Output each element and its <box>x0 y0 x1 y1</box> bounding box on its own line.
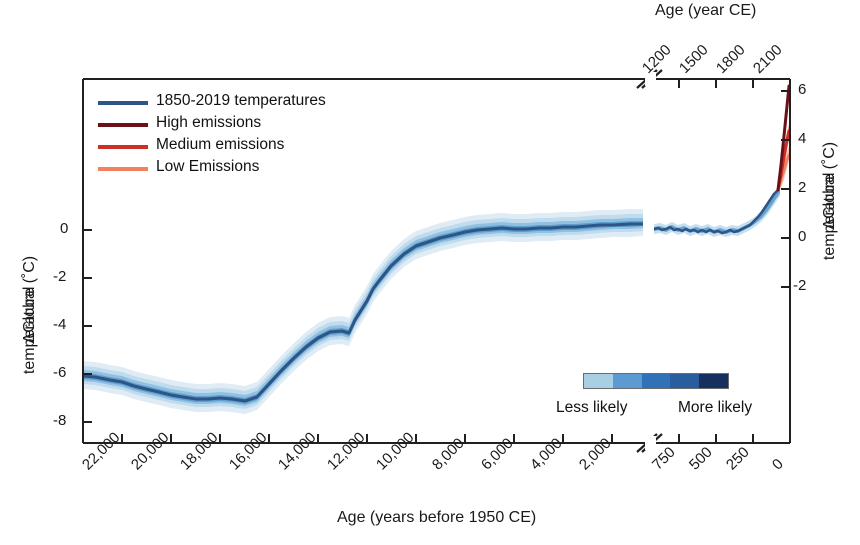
likelihood-colorbar <box>583 373 729 389</box>
legend-item-high: High emissions <box>98 114 358 136</box>
right-axis-title-line2: temperature (˚C) <box>821 121 839 281</box>
left-tick-m8: -8 <box>53 412 66 429</box>
legend-item-low: Low Emissions <box>98 158 358 180</box>
legend-swatch-medium <box>98 145 148 149</box>
left-tick-m6: -6 <box>53 364 66 381</box>
legend-swatch-observed <box>98 101 148 105</box>
bottom-axis-title: Age (years before 1950 CE) <box>337 509 536 527</box>
legend-swatch-high <box>98 123 148 127</box>
colorbar-cell-3 <box>642 374 671 388</box>
colorbar-cell-1 <box>584 374 613 388</box>
legend-item-medium: Medium emissions <box>98 136 358 158</box>
colorbar-low-label: Less likely <box>556 399 628 417</box>
legend-item-observed: 1850-2019 temperatures <box>98 92 358 114</box>
right-tick-2: 2 <box>798 179 806 196</box>
colorbar-cell-5 <box>699 374 728 388</box>
legend-label-low: Low Emissions <box>156 158 259 176</box>
colorbar-cell-4 <box>670 374 699 388</box>
right-tick-m2: -2 <box>793 277 806 294</box>
left-tick-m2: -2 <box>53 268 66 285</box>
left-tick-m4: -4 <box>53 316 66 333</box>
right-tick-6: 6 <box>798 81 806 98</box>
left-axis-title-line2: temperature (˚C) <box>21 235 39 395</box>
right-tick-0: 0 <box>798 228 806 245</box>
colorbar-high-label: More likely <box>678 399 752 417</box>
climate-temperature-figure: 1850-2019 temperatures High emissions Me… <box>0 0 860 540</box>
legend-label-high: High emissions <box>156 114 261 132</box>
legend-label-medium: Medium emissions <box>156 136 284 154</box>
top-axis-title: Age (year CE) <box>655 2 756 20</box>
left-tick-0: 0 <box>60 220 68 237</box>
legend-label-observed: 1850-2019 temperatures <box>156 92 326 110</box>
colorbar-cell-2 <box>613 374 642 388</box>
axis-break-gap-bottom <box>645 436 656 450</box>
legend-swatch-low <box>98 167 148 171</box>
right-tick-4: 4 <box>798 130 806 147</box>
